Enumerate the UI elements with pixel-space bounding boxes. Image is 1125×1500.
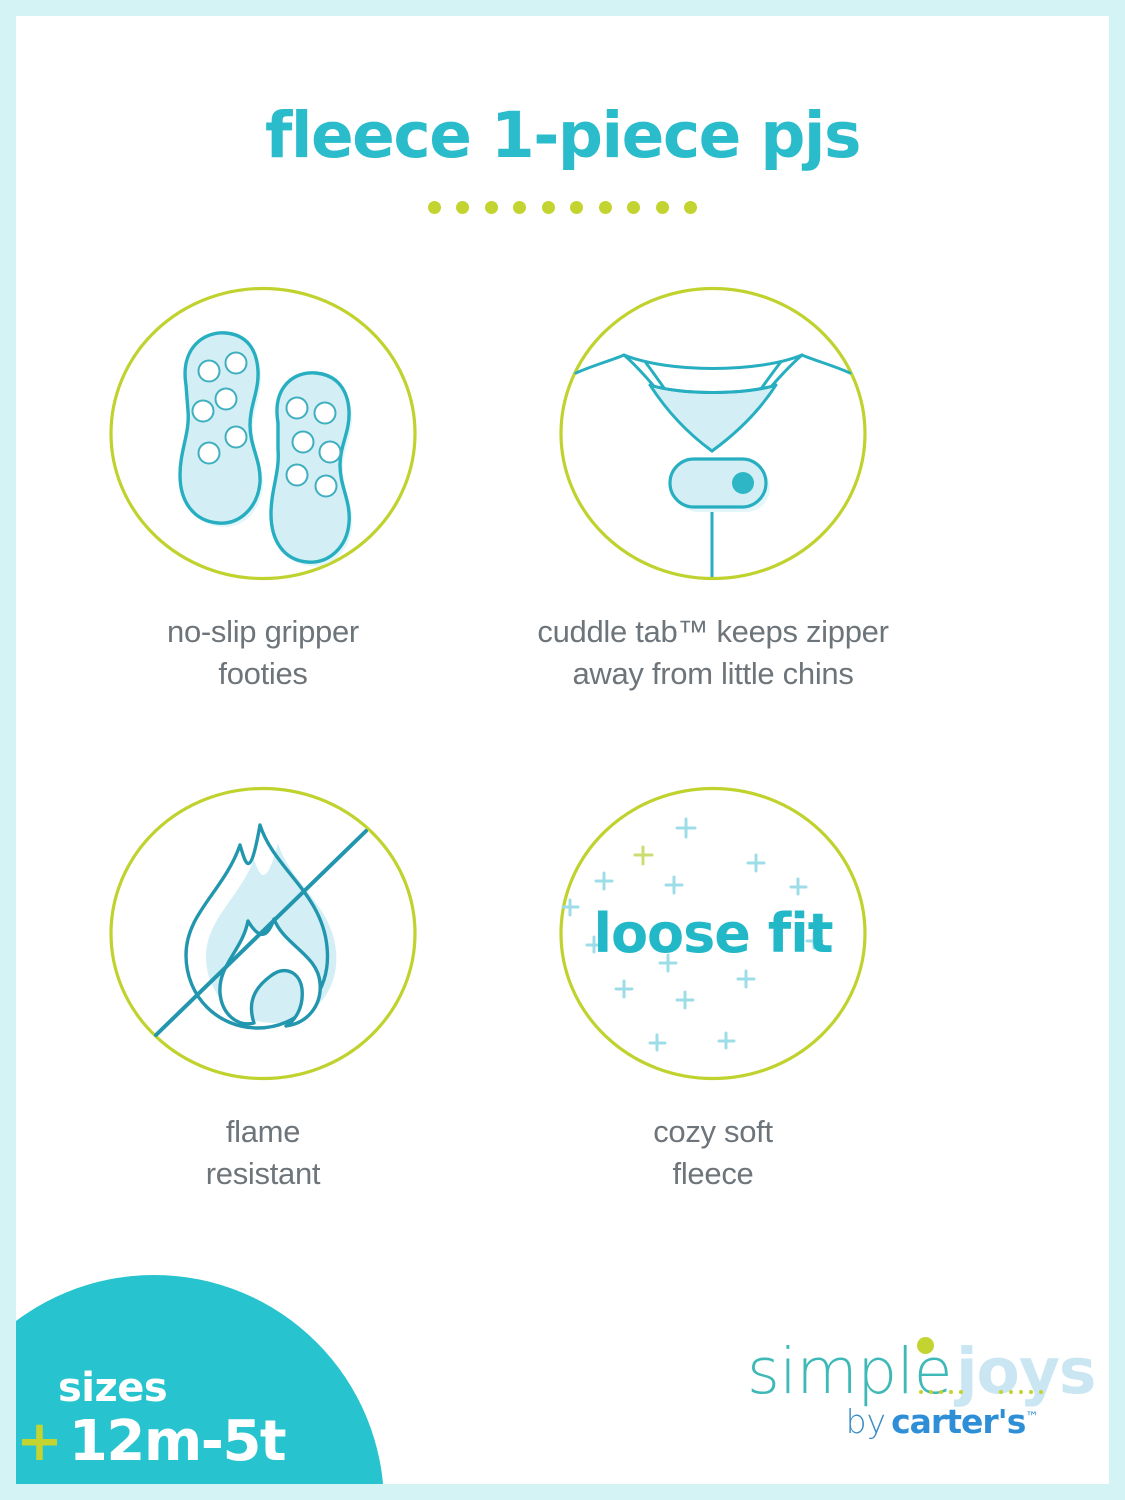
divider-dot: [485, 201, 498, 214]
zipper-pull-dot: [732, 472, 754, 494]
logo-wordmark: simplejoys: [747, 1340, 1077, 1403]
divider-dot: [627, 201, 640, 214]
no-flame-icon: [108, 785, 418, 1082]
divider-dot: [570, 201, 583, 214]
divider-dot: [456, 201, 469, 214]
feature-caption: no-slip gripper footies: [43, 611, 483, 696]
divider-dot: [428, 201, 441, 214]
feature-flame-resistant: flame resistant: [43, 785, 483, 1196]
feature-icon-circle: [108, 285, 418, 582]
divider-dot: [599, 201, 612, 214]
divider-dot: [542, 201, 555, 214]
caption-line: footies: [43, 653, 483, 695]
feature-icon-circle: loose fit: [558, 785, 868, 1082]
divider-dot: [656, 201, 669, 214]
logo-trademark: ™: [1025, 1410, 1038, 1425]
infographic-canvas: fleece 1-piece pjs: [16, 16, 1109, 1484]
page-title: fleece 1-piece pjs: [16, 104, 1109, 167]
feature-cuddle-tab: cuddle tab™ keeps zipper away from littl…: [493, 285, 933, 696]
caption-line: no-slip gripper: [43, 611, 483, 653]
feature-cozy-soft-fleece: loose fit cozy soft fleece: [493, 785, 933, 1196]
feature-caption: flame resistant: [43, 1111, 483, 1196]
logo-accent-dot-icon: [917, 1337, 934, 1354]
caption-line: away from little chins: [493, 653, 933, 695]
feature-caption: cuddle tab™ keeps zipper away from littl…: [493, 611, 933, 696]
divider-dot: [684, 201, 697, 214]
page-background: fleece 1-piece pjs: [0, 0, 1125, 1500]
divider-dot: [513, 201, 526, 214]
sizes-label: sizes: [16, 1368, 326, 1408]
sizes-badge-content: sizes + 12m-5t: [16, 1368, 326, 1470]
feature-gripper-footies: no-slip gripper footies: [43, 285, 483, 696]
logo-joys-text: joys: [956, 1335, 1095, 1408]
feature-caption: cozy soft fleece: [493, 1111, 933, 1196]
loose-fit-badge: loose fit: [558, 907, 868, 961]
feature-icon-circle: [108, 785, 418, 1082]
caption-line: cuddle tab™ keeps zipper: [493, 611, 933, 653]
sizes-range: 12m-5t: [69, 1414, 285, 1470]
sizes-range-row: + 12m-5t: [16, 1414, 326, 1470]
caption-line: cozy soft: [493, 1111, 933, 1153]
caption-line: flame: [43, 1111, 483, 1153]
caption-line: fleece: [493, 1153, 933, 1195]
gripper-footies-icon: [108, 285, 418, 582]
logo-underdots: [919, 1390, 1043, 1394]
cuddle-tab-collar-icon: [558, 285, 868, 582]
plus-icon: +: [16, 1414, 63, 1470]
logo-subline: bycarter's™: [747, 1405, 1077, 1438]
sizes-badge: sizes + 12m-5t: [16, 1275, 384, 1484]
brand-logo: simplejoys bycarter's™: [747, 1340, 1077, 1438]
feature-icon-circle: [558, 285, 868, 582]
dot-divider: [16, 201, 1109, 214]
caption-line: resistant: [43, 1153, 483, 1195]
